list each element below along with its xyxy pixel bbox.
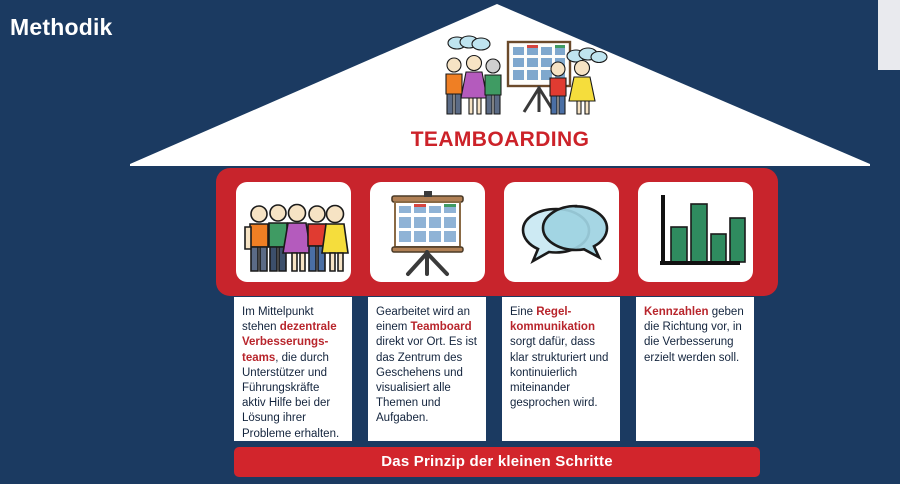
bar-chart-icon <box>638 182 753 282</box>
speech-bubbles-icon <box>504 182 619 282</box>
copyright-strip: © UKSH <box>878 0 900 70</box>
people-group-icon <box>236 182 351 282</box>
icon-card-bar-chart[interactable] <box>638 182 753 282</box>
icon-card-speech-bubbles[interactable] <box>504 182 619 282</box>
panel-dezentrale-verbesserungsteams: Im Mittelpunkt stehen dezentrale Verbess… <box>234 297 352 441</box>
icon-band <box>216 168 778 296</box>
roof-title: TEAMBOARDING <box>130 128 870 152</box>
panel-teamboard: Gearbeitet wird an einem Teamboard direk… <box>368 297 486 441</box>
icon-card-teamboard[interactable] <box>370 182 485 282</box>
house-roof: TEAMBOARDING <box>130 4 870 166</box>
foundation-banner: Das Prinzip der kleinen Schritte <box>234 447 760 477</box>
teamboard-easel-icon <box>370 182 485 282</box>
foundation-banner-label: Das Prinzip der kleinen Schritte <box>234 447 760 477</box>
people-at-teamboard-illustration <box>424 32 610 118</box>
icon-card-people-group[interactable] <box>236 182 351 282</box>
panel-kennzahlen: Kennzahlen geben die Richtung vor, in di… <box>636 297 754 441</box>
slide-canvas: Methodik © UKSH <box>0 0 900 484</box>
page-title: Methodik <box>10 14 113 41</box>
panel-regelkommunikation: Eine Regel-kommunikation sorgt dafür, da… <box>502 297 620 441</box>
